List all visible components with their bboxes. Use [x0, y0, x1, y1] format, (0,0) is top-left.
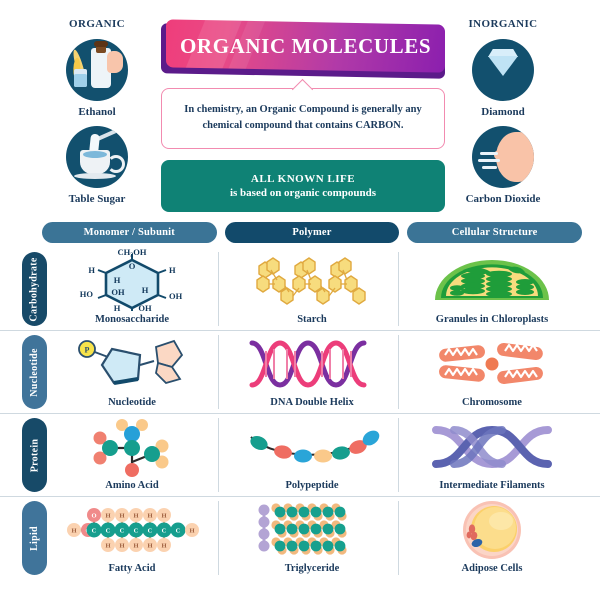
diamond-label: Diamond [448, 106, 558, 118]
svg-text:H: H [105, 513, 110, 520]
table-sugar-label: Table Sugar [42, 193, 152, 205]
exhaling-face-icon [472, 126, 534, 188]
cell-chromosome: Chromosome [402, 331, 582, 413]
row-label-text: Protein [29, 438, 40, 472]
svg-text:O: O [91, 513, 96, 520]
cell-fatty-acid: H O O C C C C C C C H [42, 497, 222, 579]
amino-acid-icon [42, 414, 222, 480]
title-bar: ORGANIC MOLECULES [166, 19, 445, 72]
row-label-text: Lipid [29, 526, 40, 551]
cell-label: Triglyceride [285, 563, 340, 574]
svg-text:H: H [189, 528, 194, 535]
cell-label: Granules in Chloroplasts [436, 314, 548, 325]
cell-label: DNA Double Helix [270, 397, 353, 408]
svg-text:H: H [114, 303, 121, 313]
definition-line-1: In chemistry, an Organic Compound is gen… [184, 104, 421, 115]
svg-text:OH: OH [138, 303, 152, 313]
table-row: Nucleotide P [0, 331, 600, 414]
cell-dna-helix: DNA Double Helix [222, 331, 402, 413]
cell-label: Intermediate Filaments [439, 480, 544, 491]
svg-text:H: H [119, 513, 124, 520]
svg-text:H: H [114, 275, 121, 285]
svg-text:C: C [134, 528, 139, 535]
chloroplast-icon [402, 248, 582, 314]
inorganic-item-carbon-dioxide: Carbon Dioxide [448, 126, 558, 205]
cell-polypeptide: Polypeptide [222, 414, 402, 496]
starch-hexagons-icon [222, 248, 402, 314]
triglyceride-icon [222, 497, 402, 563]
carbon-dioxide-label: Carbon Dioxide [448, 193, 558, 205]
svg-text:HO: HO [80, 289, 94, 299]
svg-text:C: C [162, 528, 167, 535]
svg-text:H: H [105, 543, 110, 550]
dna-helix-icon [222, 331, 402, 397]
organic-heading: ORGANIC [42, 18, 152, 30]
svg-text:OH: OH [169, 291, 183, 301]
inorganic-item-diamond: Diamond [448, 39, 558, 118]
teal-box-line-1: ALL KNOWN LIFE [175, 173, 431, 185]
organic-item-table-sugar: Table Sugar [42, 126, 152, 205]
cell-label: Fatty Acid [109, 563, 156, 574]
all-known-life-box: ALL KNOWN LIFE is based on organic compo… [161, 160, 445, 212]
cell-adipose-cells: Adipose Cells [402, 497, 582, 579]
cell-label: Amino Acid [105, 480, 158, 491]
table-row: Carbohydrate CH2OH [0, 248, 600, 331]
cell-label: Monosaccharide [95, 314, 169, 325]
cell-intermediate-filaments: Intermediate Filaments [402, 414, 582, 496]
table-row: Protein [0, 414, 600, 497]
sugar-cup-icon [66, 126, 128, 188]
cell-label: Polypeptide [285, 480, 338, 491]
svg-text:H: H [169, 265, 176, 275]
teal-box-line-2: is based on organic compounds [175, 187, 431, 199]
svg-text:O: O [129, 261, 136, 271]
svg-text:H: H [147, 513, 152, 520]
fatty-acid-icon: H O O C C C C C C C H [42, 497, 222, 563]
row-label-text: Nucleotide [29, 348, 40, 397]
cell-amino-acid: Amino Acid [42, 414, 222, 496]
cell-nucleotide: P Nucleotide [42, 331, 222, 413]
top-section: ORGANIC Ethanol [0, 0, 600, 218]
title-banner: ORGANIC MOLECULES [161, 22, 445, 74]
table-row: Lipid [0, 497, 600, 579]
svg-text:H: H [161, 543, 166, 550]
svg-text:H: H [133, 543, 138, 550]
cell-label: Chromosome [462, 397, 522, 408]
column-header-polymer: Polymer [225, 222, 400, 243]
adipose-cell-icon [402, 497, 582, 563]
organic-item-ethanol: Ethanol [42, 39, 152, 118]
filaments-icon [402, 414, 582, 480]
svg-text:C: C [148, 528, 153, 535]
cell-triglyceride: Triglyceride [222, 497, 402, 579]
glucose-ring-icon: CH2OH H O H H HO OH H OH H OH [42, 248, 222, 314]
row-label-text: Carbohydrate [29, 257, 40, 321]
infographic-page: ORGANIC Ethanol [0, 0, 600, 600]
svg-text:H: H [142, 285, 149, 295]
svg-text:H: H [71, 528, 76, 535]
svg-text:C: C [106, 528, 111, 535]
diamond-icon [472, 39, 534, 101]
svg-text:CH2OH: CH2OH [118, 247, 147, 259]
svg-text:H: H [161, 513, 166, 520]
cell-monosaccharide: CH2OH H O H H HO OH H OH H OH [42, 248, 222, 330]
svg-text:H: H [88, 265, 95, 275]
polypeptide-chain-icon [222, 414, 402, 480]
cell-label: Adipose Cells [462, 563, 523, 574]
ethanol-label: Ethanol [42, 106, 152, 118]
cell-starch: Starch [222, 248, 402, 330]
inorganic-column: INORGANIC Diamond Carbon Dioxide [448, 18, 558, 213]
definition-callout: In chemistry, an Organic Compound is gen… [161, 88, 445, 149]
svg-text:C: C [92, 528, 97, 535]
table-body: Carbohydrate CH2OH [0, 248, 600, 579]
ethanol-bottle-icon [66, 39, 128, 101]
svg-text:H: H [133, 513, 138, 520]
svg-text:C: C [176, 528, 181, 535]
definition-line-2: chemical compound that contains CARBON. [203, 120, 404, 131]
page-title: ORGANIC MOLECULES [180, 34, 431, 59]
cell-chloroplast: Granules in Chloroplasts [402, 248, 582, 330]
svg-text:C: C [120, 528, 125, 535]
callout-pointer-icon [292, 79, 313, 100]
svg-text:OH: OH [111, 287, 125, 297]
phosphate-label: P [85, 346, 90, 355]
column-header-monomer: Monomer / Subunit [42, 222, 217, 243]
svg-text:H: H [147, 543, 152, 550]
center-column: ORGANIC MOLECULES In chemistry, an Organ… [161, 22, 445, 212]
inorganic-heading: INORGANIC [448, 18, 558, 30]
chromosome-icon [402, 331, 582, 397]
svg-text:H: H [119, 543, 124, 550]
cell-label: Nucleotide [108, 397, 156, 408]
organic-column: ORGANIC Ethanol [42, 18, 152, 213]
column-header-cellular-structure: Cellular Structure [407, 222, 582, 243]
cell-label: Starch [297, 314, 327, 325]
nucleotide-icon: P [42, 331, 222, 397]
table-column-headers: Monomer / Subunit Polymer Cellular Struc… [0, 222, 600, 243]
molecules-table: Monomer / Subunit Polymer Cellular Struc… [0, 222, 600, 579]
